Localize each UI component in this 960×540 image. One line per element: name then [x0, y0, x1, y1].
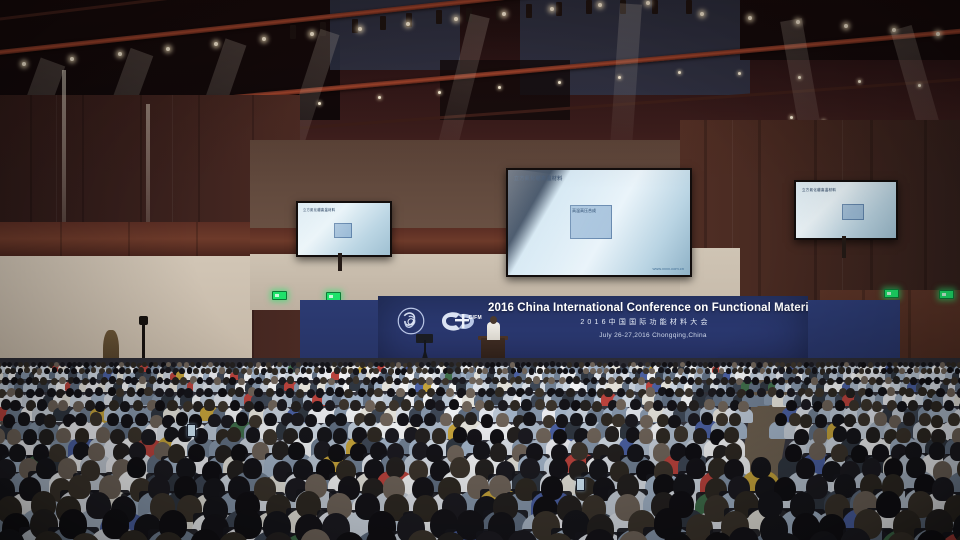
- audience-member-head: [333, 428, 348, 444]
- audience-member-head: [133, 400, 143, 411]
- audience-member-head: [353, 376, 360, 383]
- audience-member-head: [450, 457, 469, 478]
- side-screen-left: 立方氮化硼高温材料: [296, 201, 392, 257]
- left-wall-wood-band: [0, 222, 252, 256]
- side-screen-right: 立方氮化硼高温材料: [794, 180, 898, 240]
- audience-member-head: [230, 400, 240, 411]
- audience-member-head: [56, 428, 71, 444]
- audience-member-head: [638, 362, 643, 367]
- audience-member-head: [10, 400, 20, 411]
- audience-seating: [0, 358, 960, 540]
- audience-member-head: [44, 414, 56, 427]
- audience-member-head: [18, 412, 30, 425]
- audience-member-head: [495, 387, 503, 396]
- audience-member-head: [626, 389, 634, 398]
- audience-member-head: [424, 413, 436, 426]
- audience-member-head: [138, 367, 144, 373]
- audience-member-head: [90, 412, 102, 425]
- audience-member-head: [165, 388, 173, 397]
- audience-member-head: [500, 377, 507, 384]
- audience-member-head: [328, 444, 345, 462]
- audience-member-head: [127, 457, 146, 478]
- audience-member-head: [662, 362, 667, 367]
- exit-sign: [939, 290, 954, 299]
- audience-member-head: [729, 413, 741, 426]
- banner-date-location: July 26-27,2016 Chongqing,China: [553, 332, 753, 339]
- audience-member-head: [905, 388, 913, 397]
- cifm-logo: CIFM: [436, 308, 482, 334]
- audience-member-head: [614, 361, 619, 366]
- audience-member-head: [401, 399, 411, 410]
- audience-member-head: [127, 387, 135, 396]
- audience-member-head: [478, 362, 483, 367]
- audience-member-head: [227, 427, 242, 443]
- audience-member-head: [625, 414, 637, 427]
- phone-screen: [187, 424, 196, 437]
- audience-member-head: [874, 412, 886, 425]
- audience-member-head: [833, 362, 838, 367]
- audience-member-head: [75, 413, 87, 426]
- audience-member-head: [518, 428, 533, 444]
- exit-sign: [884, 289, 899, 298]
- audience-member-head: [248, 362, 253, 367]
- audience-member-head: [302, 377, 309, 384]
- audience-member-head: [809, 442, 826, 460]
- audience-member-head: [887, 387, 895, 396]
- audience-member-head: [435, 368, 441, 374]
- exit-sign: [272, 291, 287, 300]
- audience-member-head: [385, 428, 400, 444]
- audience-member-head: [496, 413, 508, 426]
- audience-member-head: [553, 429, 568, 445]
- audience-member-head: [850, 362, 855, 367]
- audience-member-head: [520, 458, 539, 479]
- audience-member-head: [724, 427, 739, 443]
- speaker-body: [487, 322, 500, 340]
- audience-member-head: [627, 444, 644, 462]
- audience-member-head: [236, 412, 248, 425]
- audience-member-head: [107, 413, 119, 426]
- audience-member-head: [630, 399, 640, 410]
- audience-member-head: [184, 388, 192, 397]
- audience-member-head: [15, 388, 23, 397]
- audience-member-head: [801, 399, 811, 410]
- audience-member-head: [726, 387, 734, 396]
- audience-member-head: [787, 388, 795, 397]
- audience-member-head: [373, 368, 379, 374]
- audience-member-head: [638, 377, 645, 384]
- audience-member-head: [573, 376, 580, 383]
- audience-member-head: [704, 399, 714, 410]
- audience-member-head: [604, 388, 612, 397]
- audience-member-head: [243, 458, 262, 479]
- audience-member-head: [440, 413, 452, 426]
- audience-member-head: [177, 362, 182, 367]
- audience-member-head: [815, 414, 827, 427]
- audience-member-head: [529, 368, 535, 374]
- slide-heading-left: 立方氮化硼高温材料: [303, 207, 335, 212]
- audience-member-head: [858, 413, 870, 426]
- audience-member-head: [272, 368, 278, 374]
- audience-member-head: [204, 388, 212, 397]
- audience-member-head: [786, 400, 796, 411]
- audience-member-head: [815, 388, 823, 397]
- banner-subtitle-cn: 2016中国国际功能材料大会: [518, 317, 773, 327]
- audience-member-head: [344, 389, 352, 398]
- audience-member-head: [455, 367, 461, 373]
- audience-member-head: [287, 376, 294, 383]
- audience-member-head: [738, 401, 748, 412]
- audience-member-head: [751, 457, 770, 478]
- conference-swirl-logo: [396, 306, 426, 336]
- audience-member-head: [40, 377, 47, 384]
- audience-member-head: [533, 376, 540, 383]
- audience-member-head: [299, 427, 314, 443]
- audience-member-head: [931, 415, 943, 428]
- audience-member-head: [459, 377, 466, 384]
- audience-member-head: [139, 376, 146, 383]
- audience-member-head: [68, 475, 90, 499]
- audience-member-head: [466, 388, 474, 397]
- audience-member-head: [605, 426, 620, 442]
- audience-member-head: [496, 362, 501, 367]
- slide-heading-main: 立方氮化硼高温材料: [514, 175, 563, 182]
- audience-member-head: [778, 377, 785, 384]
- phone-screen: [576, 478, 585, 491]
- audience-member-head: [328, 378, 335, 385]
- audience-member-head: [484, 400, 494, 411]
- audience-member-head: [325, 400, 335, 411]
- audience-member-head: [646, 387, 654, 396]
- audience-member-head: [622, 368, 628, 374]
- audience-member-head: [701, 412, 713, 425]
- audience-member-head: [910, 377, 917, 384]
- audience-member-head: [306, 368, 312, 374]
- audience-member-head: [502, 368, 508, 374]
- audience-member-head: [396, 388, 404, 397]
- slide-footer: www.xxxx.com.cn: [652, 266, 684, 271]
- audience-member-head: [696, 388, 704, 397]
- audience-member-head: [865, 388, 873, 397]
- audience-member-head: [592, 401, 602, 412]
- main-projection-screen: 立方氮化硼高温材料 高温高压合成 www.xxxx.com.cn: [506, 168, 692, 277]
- slide-object-label: 高温高压合成: [572, 208, 596, 214]
- audience-member-head: [744, 368, 750, 374]
- audience-member-head: [144, 387, 152, 396]
- audience-member-head: [515, 376, 522, 383]
- audience-member-head: [947, 388, 955, 397]
- audience-member-head: [950, 442, 960, 460]
- audience-member-head: [90, 377, 97, 384]
- audience-member-head: [141, 429, 156, 445]
- audience-member-head: [921, 362, 926, 367]
- audience-member-head: [903, 412, 915, 425]
- audience-member-head: [872, 401, 882, 412]
- audience-member-head: [523, 412, 535, 425]
- audience-member-head: [60, 362, 65, 367]
- audience-member-head: [866, 427, 881, 443]
- audience-member-head: [640, 415, 652, 428]
- audience-member-head: [135, 413, 147, 426]
- audience-member-head: [525, 387, 533, 396]
- audience-member-head: [432, 428, 447, 444]
- cifm-logo-text: CIFM: [469, 315, 482, 321]
- audience-member-head: [407, 367, 413, 373]
- audience-member-head: [277, 399, 287, 410]
- audience-member-head: [374, 388, 382, 397]
- banner-title: 2016 China International Conference on F…: [488, 302, 804, 314]
- audience-member-head: [142, 362, 147, 367]
- audience-member-head: [246, 427, 261, 443]
- audience-member-head: [204, 399, 214, 410]
- audience-member-head: [35, 388, 43, 397]
- audience-member-head: [235, 387, 243, 396]
- audience-member-head: [288, 442, 305, 460]
- audience-member-head: [380, 413, 392, 426]
- audience-member-head: [846, 428, 861, 444]
- audience-member-head: [899, 368, 905, 374]
- audience-member-head: [335, 413, 347, 426]
- audience-member-head: [88, 443, 105, 461]
- audience-member-head: [264, 413, 276, 426]
- audience-member-head: [794, 376, 801, 383]
- audience-member-head: [386, 457, 405, 478]
- audience-member-head: [903, 362, 908, 367]
- audience-member-head: [893, 376, 900, 383]
- audience-member-head: [535, 388, 543, 397]
- audience-member-head: [254, 388, 262, 397]
- audience-member-head: [364, 413, 376, 426]
- audience-member-head: [746, 389, 754, 398]
- audience-member-head: [449, 399, 459, 410]
- audience-member-head: [846, 367, 852, 373]
- audience-member-head: [695, 377, 702, 384]
- audience-member-head: [835, 400, 845, 411]
- audience-member-head: [674, 426, 689, 442]
- audience-member-head: [752, 377, 759, 384]
- audience-member-head: [812, 367, 818, 373]
- audience-member-head: [71, 368, 77, 374]
- audience-member-head: [873, 368, 879, 374]
- conference-hall-photo: 立方氮化硼高温材料 立方氮化硼高温材料 高温高压合成 www.xxxx.com.…: [0, 0, 960, 540]
- audience-member-head: [254, 401, 264, 412]
- slide-heading-right: 立方氮化硼高温材料: [802, 187, 836, 192]
- audience-member-head: [653, 400, 663, 411]
- audience-member-head: [566, 388, 574, 397]
- audience-member-head: [167, 400, 177, 411]
- audience-member-head: [42, 362, 47, 367]
- audience-member-head: [896, 428, 911, 444]
- audience-member-head: [693, 428, 708, 444]
- audience-member-head: [944, 400, 954, 411]
- audience-member-head: [180, 377, 187, 384]
- audience-member-head: [24, 367, 30, 373]
- speaker-head: [490, 316, 497, 324]
- audience-member-head: [567, 362, 572, 367]
- audience-member-head: [446, 388, 454, 397]
- audience-member-head: [350, 400, 360, 411]
- audience-member-head: [58, 400, 68, 411]
